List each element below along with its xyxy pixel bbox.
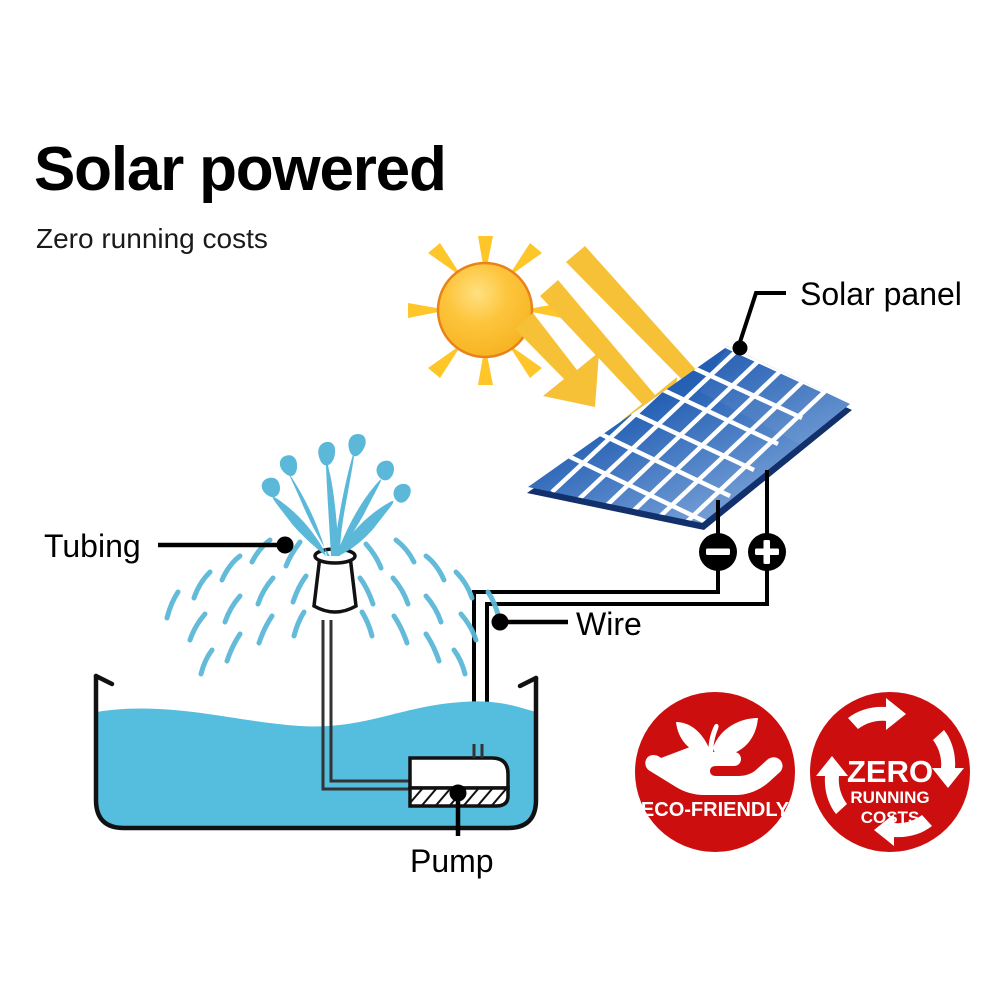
zero-badge-line2: RUNNING: [850, 788, 929, 807]
zero-cost-badge: ZERO RUNNING COSTS: [0, 0, 1000, 1000]
infographic-canvas: Solar powered Zero running costs: [0, 0, 1000, 1000]
zero-badge-line1: ZERO: [847, 754, 933, 789]
zero-badge-line3: COSTS: [861, 808, 920, 827]
